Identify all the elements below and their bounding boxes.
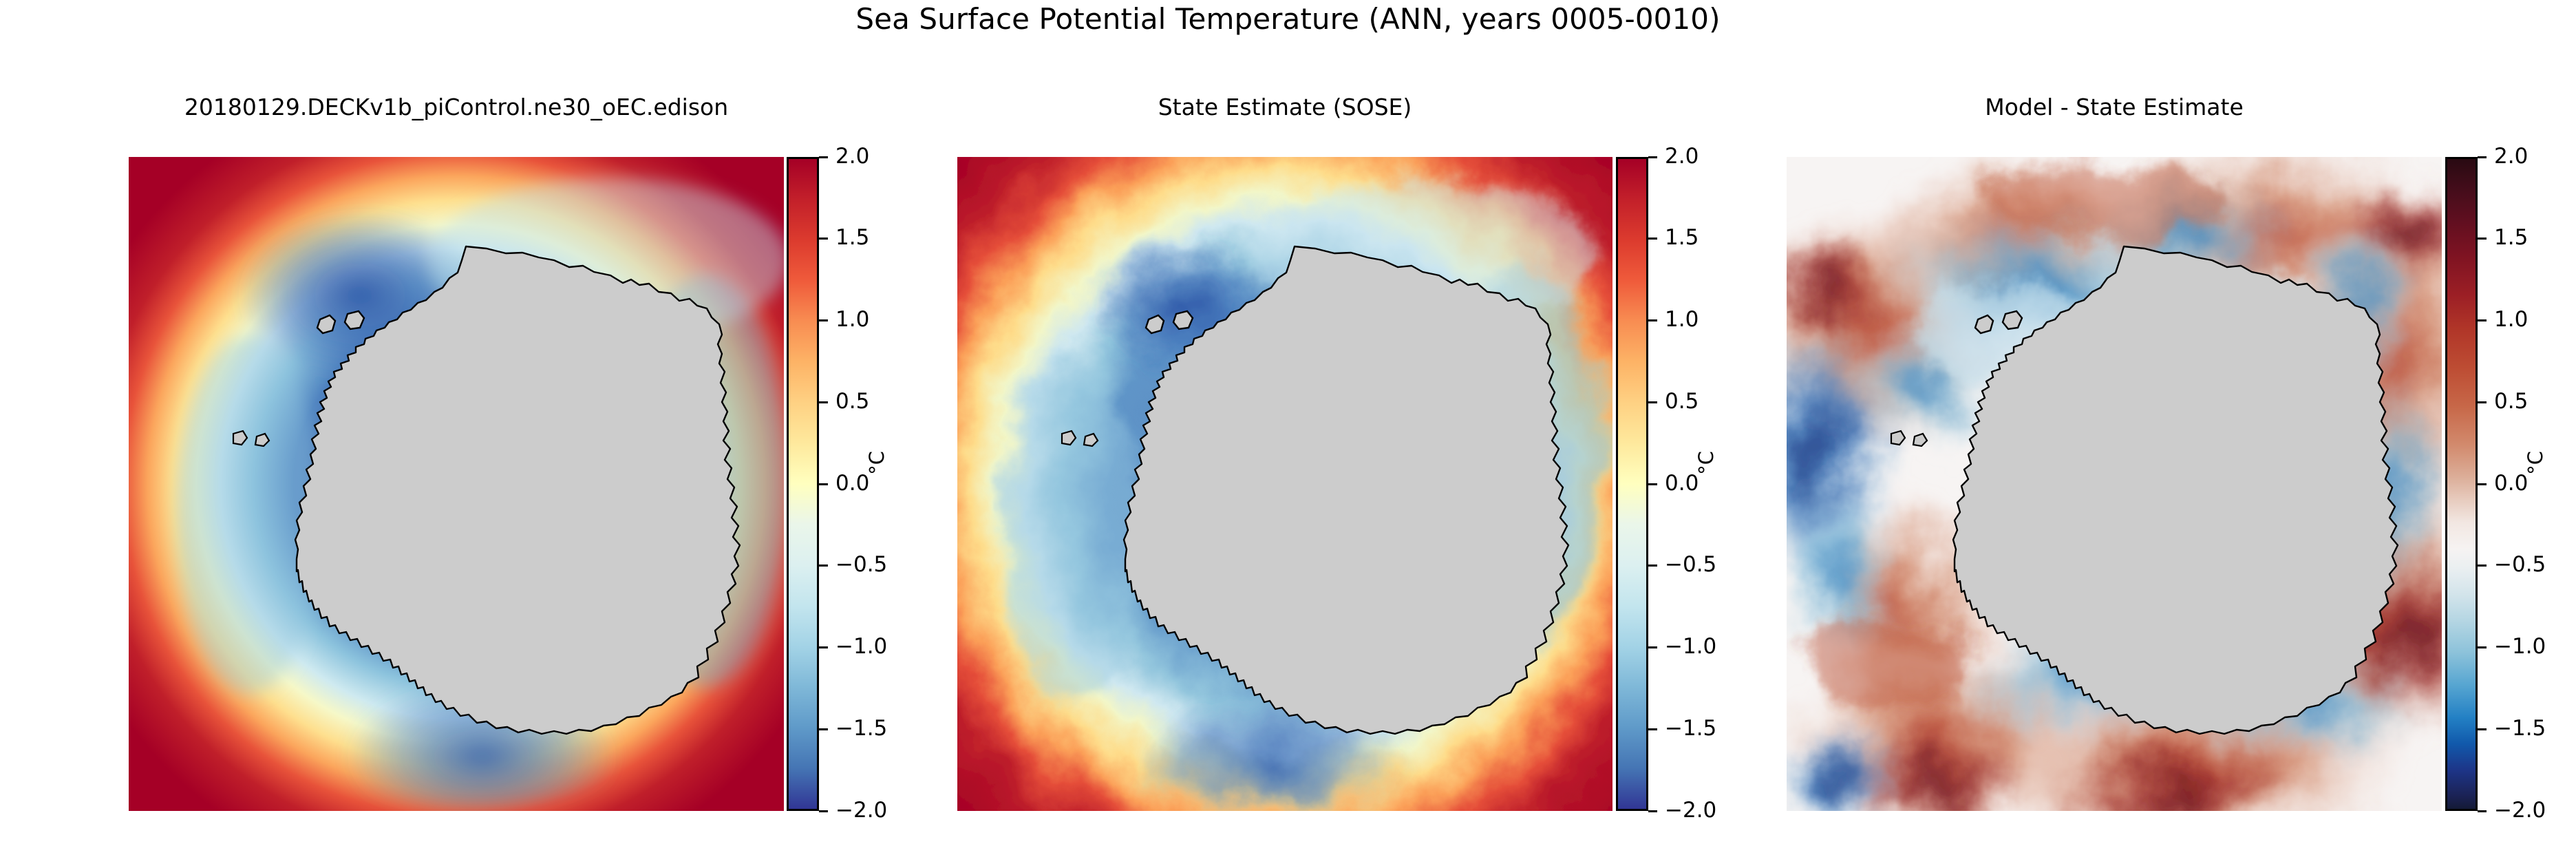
- tick-label: 1.5: [835, 227, 869, 249]
- tick-mark: [819, 237, 828, 240]
- tick-mark: [2478, 401, 2487, 403]
- tick-label: 1.0: [2494, 309, 2528, 330]
- colorbar-ticks-difference: 2.0 1.5 1.0 0.5 0.0 −0.5 −1.0 −1.5 −2.0: [2478, 157, 2576, 811]
- panel-title-state-estimate: State Estimate (SOSE): [875, 94, 1695, 120]
- tick-label: −2.0: [2494, 800, 2546, 821]
- tick-mark: [819, 728, 828, 730]
- tick-mark: [2478, 237, 2487, 240]
- colorbar-unit-difference: °C: [2524, 451, 2547, 475]
- tick-mark: [819, 401, 828, 403]
- tick-label: 2.0: [1665, 146, 1699, 167]
- colorbar-unit-state-estimate: °C: [1694, 451, 1718, 475]
- tick-label: 1.5: [2494, 227, 2528, 249]
- tick-mark: [1648, 401, 1657, 403]
- panel-title-model: 20180129.DECKv1b_piControl.ne30_oEC.edis…: [46, 94, 866, 120]
- tick-label: −1.0: [2494, 636, 2546, 657]
- tick-label: 0.0: [1665, 473, 1699, 494]
- colorbar-ticks-model: 2.0 1.5 1.0 0.5 0.0 −0.5 −1.0 −1.5 −2.0: [819, 157, 950, 811]
- tick-mark: [1648, 156, 1657, 158]
- tick-mark: [2478, 483, 2487, 485]
- tick-mark: [2478, 319, 2487, 321]
- tick-mark: [1648, 728, 1657, 730]
- colorbar-gradient-model: [789, 159, 817, 809]
- panel-model: 20180129.DECKv1b_piControl.ne30_oEC.edis…: [129, 157, 784, 811]
- figure-canvas: Sea Surface Potential Temperature (ANN, …: [0, 0, 2576, 855]
- tick-label: −0.5: [2494, 554, 2546, 576]
- tick-label: 0.5: [835, 391, 869, 412]
- tick-label: 1.5: [1665, 227, 1699, 249]
- tick-label: 2.0: [2494, 146, 2528, 167]
- map-svg-difference: [1787, 157, 2442, 811]
- map-difference[interactable]: [1787, 157, 2442, 811]
- tick-mark: [2478, 156, 2487, 158]
- panel-difference: Model - State Estimate: [1787, 157, 2442, 811]
- tick-mark: [819, 156, 828, 158]
- tick-mark: [819, 646, 828, 648]
- tick-label: −0.5: [1665, 554, 1716, 576]
- colorbar-state-estimate: [1616, 157, 1648, 811]
- tick-label: −2.0: [835, 800, 887, 821]
- tick-mark: [1648, 483, 1657, 485]
- figure-title: Sea Surface Potential Temperature (ANN, …: [0, 2, 2576, 36]
- tick-mark: [2478, 728, 2487, 730]
- tick-label: 0.0: [2494, 473, 2528, 494]
- tick-mark: [819, 564, 828, 567]
- tick-mark: [1648, 564, 1657, 567]
- tick-label: −1.5: [1665, 718, 1716, 739]
- tick-mark: [1648, 319, 1657, 321]
- tick-label: −1.5: [835, 718, 887, 739]
- panel-state-estimate: State Estimate (SOSE): [957, 157, 1612, 811]
- tick-mark: [1648, 810, 1657, 812]
- tick-label: 0.5: [2494, 391, 2528, 412]
- tick-label: −1.5: [2494, 718, 2546, 739]
- panel-title-difference: Model - State Estimate: [1704, 94, 2524, 120]
- colorbar-ticks-state-estimate: 2.0 1.5 1.0 0.5 0.0 −0.5 −1.0 −1.5 −2.0: [1648, 157, 1779, 811]
- tick-label: 1.0: [835, 309, 869, 330]
- tick-label: −1.0: [1665, 636, 1716, 657]
- tick-mark: [2478, 810, 2487, 812]
- tick-label: 0.0: [835, 473, 869, 494]
- tick-label: −0.5: [835, 554, 887, 576]
- tick-mark: [1648, 646, 1657, 648]
- tick-label: 0.5: [1665, 391, 1699, 412]
- tick-mark: [819, 319, 828, 321]
- colorbar-gradient-difference: [2447, 159, 2476, 809]
- map-svg-state-estimate: [957, 157, 1612, 811]
- tick-mark: [819, 483, 828, 485]
- tick-mark: [819, 810, 828, 812]
- colorbar-difference: [2445, 157, 2478, 811]
- colorbar-unit-model: °C: [865, 451, 888, 475]
- map-state-estimate[interactable]: [957, 157, 1612, 811]
- colorbar-model: [787, 157, 819, 811]
- tick-label: −2.0: [1665, 800, 1716, 821]
- colorbar-gradient-state-estimate: [1618, 159, 1646, 809]
- tick-mark: [1648, 237, 1657, 240]
- tick-label: 1.0: [1665, 309, 1699, 330]
- map-svg-model: [129, 157, 784, 811]
- tick-mark: [2478, 564, 2487, 567]
- tick-label: −1.0: [835, 636, 887, 657]
- tick-label: 2.0: [835, 146, 869, 167]
- tick-mark: [2478, 646, 2487, 648]
- map-model[interactable]: [129, 157, 784, 811]
